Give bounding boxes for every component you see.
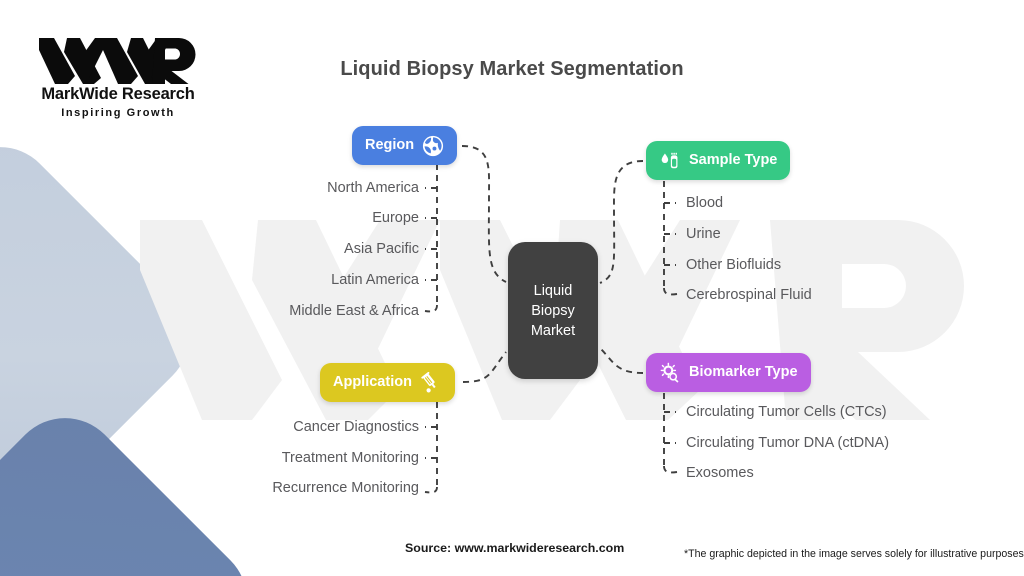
infographic-canvas: MarkWide Research Inspiring Growth Liqui… bbox=[0, 0, 1024, 576]
source-text: Source: www.markwideresearch.com bbox=[405, 541, 624, 555]
leaf-sample-2: Urine bbox=[686, 227, 721, 242]
leaf-region-3: Asia Pacific bbox=[344, 242, 419, 257]
leaf-application-1: Cancer Diagnostics bbox=[293, 420, 419, 435]
branch-label-region: Region bbox=[365, 138, 414, 153]
branch-pill-region[interactable]: Region bbox=[352, 126, 457, 165]
connector-biomarker-to-center bbox=[600, 348, 643, 373]
connector-application-to-center bbox=[463, 352, 506, 382]
connector-sample-to-center bbox=[600, 161, 643, 283]
leaf-sample-3: Other Biofluids bbox=[686, 258, 781, 273]
leaf-sample-4: Cerebrospinal Fluid bbox=[686, 288, 812, 303]
stub-application-3 bbox=[425, 487, 437, 492]
branch-label-biomarker-type: Biomarker Type bbox=[689, 365, 798, 380]
brand-name: MarkWide Research bbox=[32, 85, 204, 104]
stub-sample-4 bbox=[664, 288, 677, 294]
brand-tagline: Inspiring Growth bbox=[32, 107, 204, 119]
center-node-line-3: Market bbox=[531, 321, 575, 341]
branch-pill-biomarker-type[interactable]: Biomarker Type bbox=[646, 353, 811, 392]
leaf-biomarker-2: Circulating Tumor DNA (ctDNA) bbox=[686, 436, 889, 451]
center-node-line-1: Liquid bbox=[534, 281, 573, 301]
leaf-region-5: Middle East & Africa bbox=[289, 304, 419, 319]
disclaimer-text: *The graphic depicted in the image serve… bbox=[684, 548, 1024, 560]
decorative-shape-light bbox=[0, 124, 212, 548]
syringe-icon bbox=[420, 372, 442, 394]
page-title: Liquid Biopsy Market Segmentation bbox=[0, 58, 1024, 81]
leaf-region-1: North America bbox=[327, 181, 419, 196]
center-node-line-2: Biopsy bbox=[531, 301, 575, 321]
leaf-application-3: Recurrence Monitoring bbox=[272, 481, 419, 496]
blood-drop-test-tube-icon bbox=[659, 150, 681, 172]
leaf-application-2: Treatment Monitoring bbox=[282, 451, 419, 466]
microbe-magnifier-icon bbox=[659, 362, 681, 384]
branch-pill-application[interactable]: Application bbox=[320, 363, 455, 402]
center-node[interactable]: Liquid Biopsy Market bbox=[508, 242, 598, 379]
globe-icon bbox=[422, 135, 444, 157]
stub-biomarker-3 bbox=[664, 466, 677, 472]
leaf-region-4: Latin America bbox=[331, 273, 419, 288]
branch-pill-sample-type[interactable]: Sample Type bbox=[646, 141, 790, 180]
connector-region-to-center bbox=[462, 146, 506, 282]
leaf-region-2: Europe bbox=[372, 211, 419, 226]
leaf-biomarker-1: Circulating Tumor Cells (CTCs) bbox=[686, 405, 887, 420]
leaf-biomarker-3: Exosomes bbox=[686, 466, 754, 481]
branch-label-sample-type: Sample Type bbox=[689, 153, 777, 168]
decorative-shape-dark bbox=[0, 395, 270, 576]
stub-region-5 bbox=[425, 305, 437, 311]
branch-label-application: Application bbox=[333, 375, 412, 390]
leaf-sample-1: Blood bbox=[686, 196, 723, 211]
